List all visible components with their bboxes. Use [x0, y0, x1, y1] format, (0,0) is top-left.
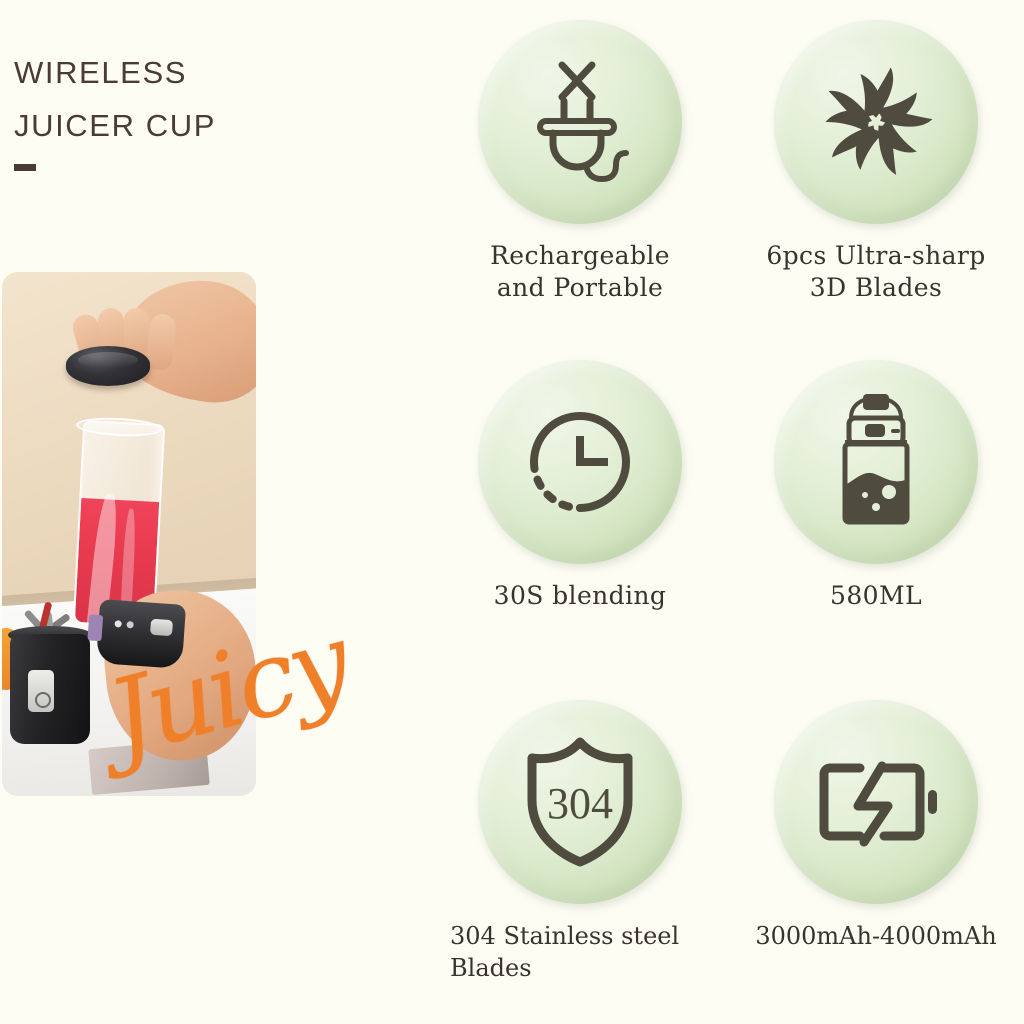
- plug-crossed-icon: [520, 57, 640, 187]
- photo-status-led: [126, 621, 133, 628]
- feature-badge: [478, 20, 682, 224]
- feature-label: Rechargeable and Portable: [432, 240, 728, 304]
- feature-label: 304 Stainless steel Blades: [432, 920, 728, 984]
- title-line-2: JUICER CUP: [14, 99, 414, 152]
- battery-charging-icon: [810, 752, 942, 852]
- clock-icon: [520, 402, 640, 522]
- product-photo: [2, 272, 256, 796]
- feature-battery: 3000mAh-4000mAh: [728, 700, 1024, 952]
- photo-power-button: [28, 670, 54, 712]
- page-title: WIRELESS JUICER CUP: [14, 46, 414, 171]
- feature-badge: 304: [478, 700, 682, 904]
- blade-propeller-icon: [813, 59, 939, 185]
- photo-cup-lid: [66, 346, 150, 386]
- photo-motor-unit: [96, 599, 186, 669]
- feature-blades: 6pcs Ultra-sharp 3D Blades: [728, 20, 1024, 304]
- feature-label: 580ML: [728, 580, 1024, 612]
- feature-badge: [774, 20, 978, 224]
- feature-label: 3000mAh-4000mAh: [728, 920, 1024, 952]
- feature-label: 30S blending: [432, 580, 728, 612]
- photo-motor-tab: [87, 614, 103, 641]
- left-column: WIRELESS JUICER CUP: [0, 0, 430, 1024]
- infographic-page: WIRELESS JUICER CUP: [0, 0, 1024, 1024]
- feature-steel: 304 304 Stainless steel Blades: [432, 700, 728, 984]
- feature-blend-time: 30S blending: [432, 360, 728, 612]
- title-line-1: WIRELESS: [14, 46, 414, 99]
- feature-capacity: 580ML: [728, 360, 1024, 612]
- title-divider: [14, 164, 36, 171]
- photo-status-led: [114, 620, 121, 627]
- feature-grid: Rechargeable and Portable: [432, 0, 1024, 1024]
- photo-motor-button: [150, 619, 173, 636]
- feature-rechargeable: Rechargeable and Portable: [432, 20, 728, 304]
- shield-304-icon: 304: [518, 736, 642, 868]
- feature-badge: [478, 360, 682, 564]
- shield-value: 304: [547, 779, 613, 828]
- feature-label: 6pcs Ultra-sharp 3D Blades: [728, 240, 1024, 304]
- feature-badge: [774, 360, 978, 564]
- feature-badge: [774, 700, 978, 904]
- bottle-icon: [821, 392, 931, 532]
- photo-scene: [2, 272, 256, 796]
